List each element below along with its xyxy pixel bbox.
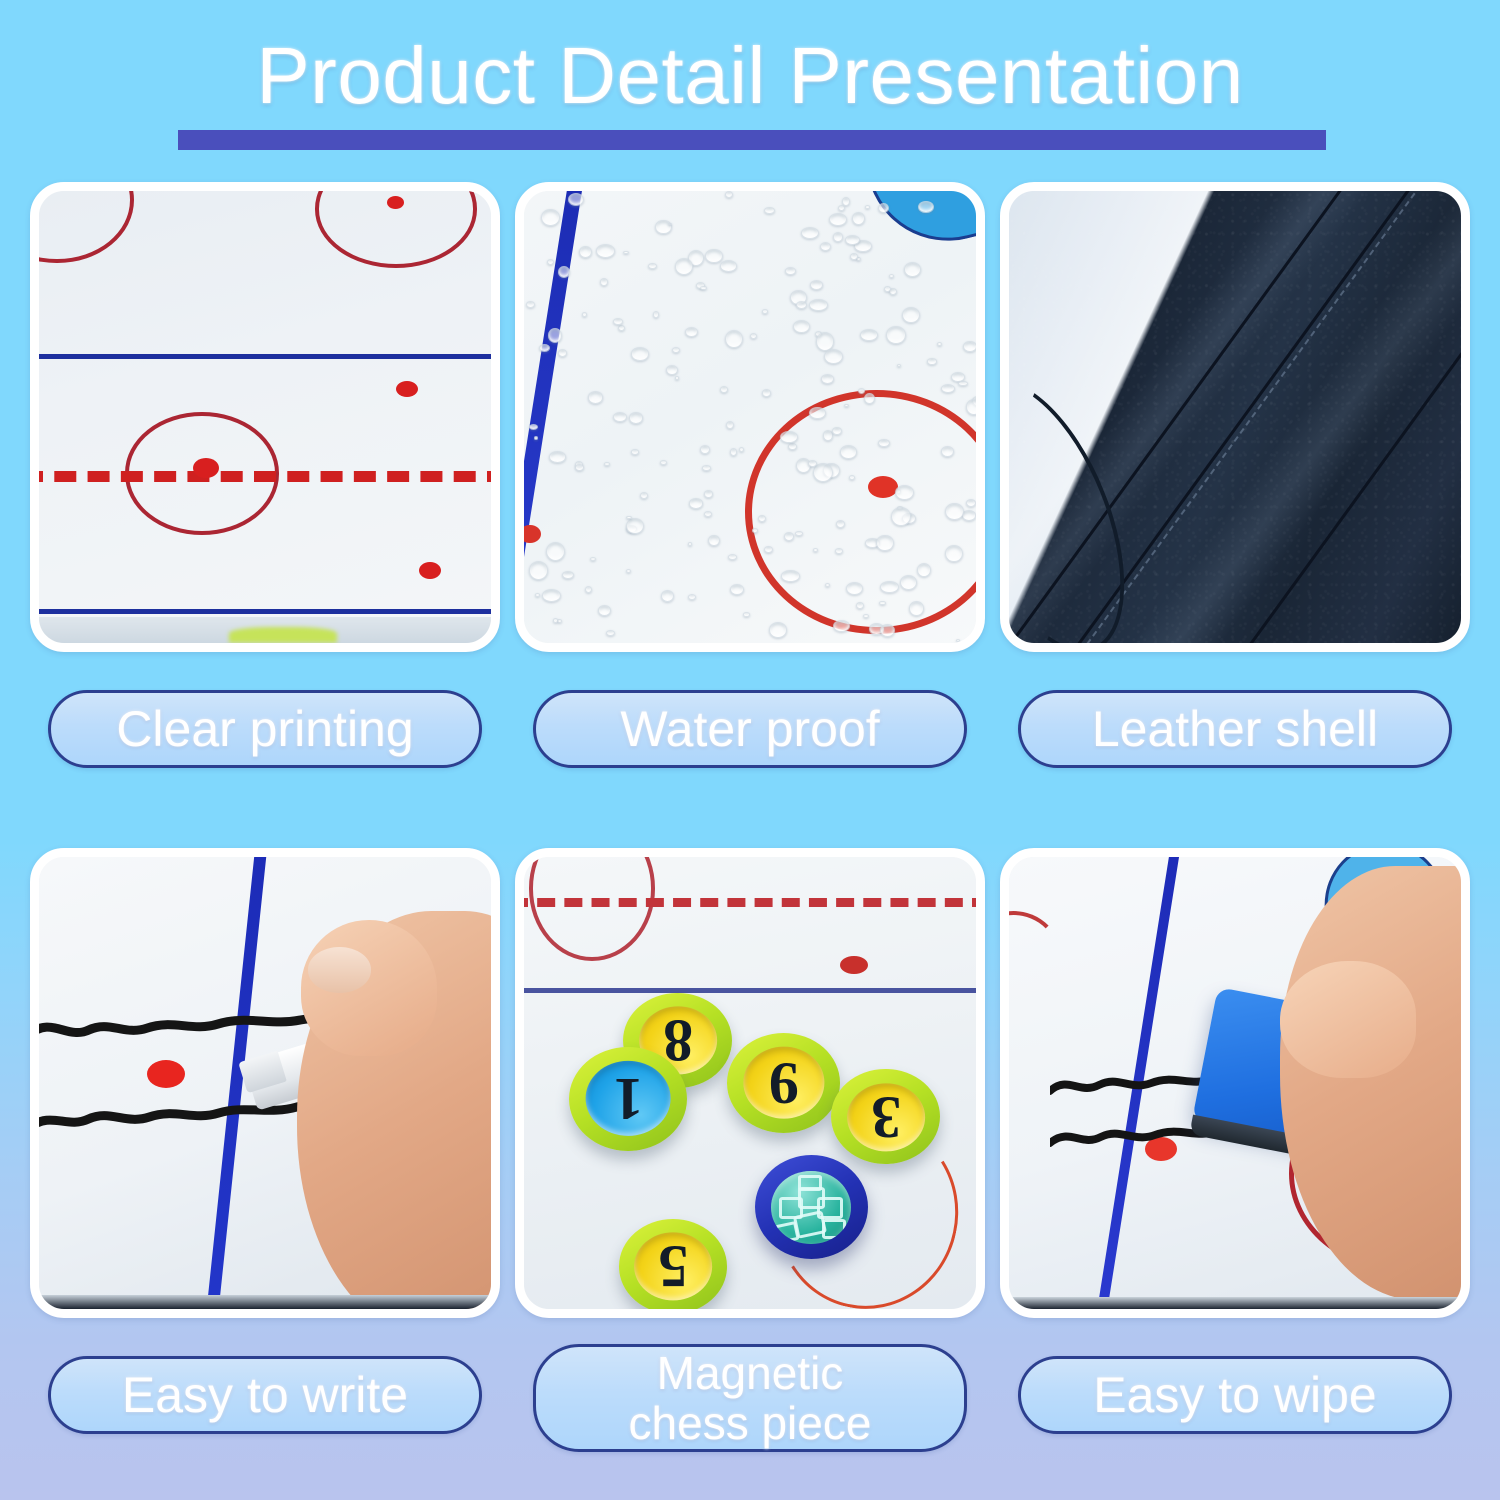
water-droplet: [769, 622, 787, 638]
chess-piece-5: 5: [619, 1219, 727, 1309]
soccer-ball-puck: [755, 1155, 868, 1259]
water-droplet: [958, 381, 967, 387]
feature-card-water-proof[interactable]: Water proof: [515, 182, 985, 652]
water-droplet: [788, 443, 797, 449]
chess-piece-9: 9: [727, 1033, 840, 1132]
water-droplet: [704, 490, 713, 497]
feature-image-easy-to-wipe: [1000, 848, 1470, 1318]
water-droplet: [562, 571, 574, 579]
soccer-ball-hexagon: [822, 1219, 846, 1239]
water-droplet: [945, 545, 962, 562]
feature-label-line-2: chess piece: [629, 1397, 872, 1449]
water-droplet: [631, 449, 639, 454]
water-droplet: [833, 620, 850, 632]
feature-label-line-1: Magnetic: [657, 1347, 844, 1399]
water-droplet: [529, 561, 548, 579]
water-droplet: [629, 412, 643, 423]
soccer-ball-hexagon: [798, 1175, 822, 1191]
water-droplet: [793, 320, 810, 333]
water-droplet: [927, 358, 936, 364]
soccer-ball-hexagon: [774, 1221, 800, 1243]
water-droplet: [613, 412, 627, 422]
water-droplet: [795, 531, 803, 536]
water-droplet: [626, 518, 644, 534]
water-droplet: [876, 535, 893, 551]
water-droplet: [675, 376, 680, 379]
water-droplet: [963, 341, 976, 353]
water-droplet: [956, 639, 960, 642]
water-droplet: [780, 431, 797, 443]
chess-piece-3: 3: [831, 1069, 939, 1164]
water-droplet: [604, 462, 610, 466]
water-droplet: [917, 563, 931, 577]
water-droplet: [688, 594, 696, 600]
water-droplet: [575, 464, 584, 470]
feature-card-leather-shell[interactable]: Leather shell: [1000, 182, 1470, 652]
feature-image-easy-to-write: [30, 848, 500, 1318]
water-droplet: [541, 209, 559, 226]
feature-label-easy-to-wipe: Easy to wipe: [1018, 1356, 1452, 1434]
water-droplet: [891, 507, 910, 526]
chess-piece-1: 1: [569, 1047, 687, 1151]
water-droplet: [825, 583, 830, 587]
water-droplet: [864, 393, 875, 404]
water-droplet: [730, 584, 744, 595]
water-droplet: [764, 207, 774, 214]
feature-label-text: Easy to wipe: [1093, 1368, 1376, 1422]
water-droplet: [548, 328, 562, 343]
feature-label-magnetic-chess-piece: Magnetic chess piece: [533, 1344, 967, 1452]
water-droplet: [626, 516, 631, 519]
water-droplet: [889, 274, 894, 278]
water-droplet: [539, 344, 550, 352]
water-droplet: [720, 260, 737, 272]
water-droplet: [889, 288, 897, 295]
water-droplet: [529, 424, 538, 430]
water-droplet: [596, 244, 615, 258]
chess-piece-number: 3: [847, 1083, 925, 1151]
water-droplet: [813, 463, 833, 482]
water-droplet: [858, 388, 865, 394]
water-droplet: [579, 246, 592, 258]
water-droplet: [860, 329, 878, 341]
water-droplet: [720, 386, 728, 393]
water-droplet: [852, 212, 865, 225]
feature-label-text: Magnetic chess piece: [629, 1348, 872, 1448]
water-droplet: [821, 374, 834, 383]
water-droplet: [966, 399, 976, 415]
water-droplet: [549, 451, 567, 463]
water-droplet: [725, 191, 733, 198]
feature-image-leather-shell: [1000, 182, 1470, 652]
chess-piece-number: 9: [743, 1047, 824, 1119]
water-droplet: [880, 624, 895, 637]
water-droplet: [640, 492, 648, 499]
water-droplet: [796, 301, 807, 309]
feature-label-leather-shell: Leather shell: [1018, 690, 1452, 768]
water-droplet: [878, 203, 889, 213]
chess-piece-number: 5: [634, 1232, 712, 1300]
water-droplet: [558, 349, 567, 357]
feature-label-easy-to-write: Easy to write: [48, 1356, 482, 1434]
water-droplet: [849, 475, 855, 480]
water-droplet: [750, 333, 757, 339]
water-droplet: [941, 384, 955, 393]
water-droplet: [838, 205, 845, 211]
water-droplet: [613, 318, 623, 325]
water-droplet: [865, 205, 870, 209]
water-droplet: [879, 601, 886, 606]
page-title: Product Detail Presentation: [0, 26, 1500, 126]
water-droplet: [813, 548, 818, 552]
feature-label-clear-printing: Clear printing: [48, 690, 482, 768]
water-droplet: [762, 389, 772, 397]
water-droplet: [909, 601, 924, 615]
feature-label-text: Clear printing: [116, 702, 413, 756]
water-droplet: [880, 581, 898, 593]
water-droplet: [568, 193, 584, 206]
water-droplet: [810, 280, 823, 290]
water-droplet: [966, 499, 976, 507]
water-droplet: [832, 427, 842, 435]
water-droplet: [704, 511, 712, 517]
chess-piece-number: 1: [586, 1061, 671, 1136]
water-droplet: [743, 612, 750, 617]
water-droplet: [600, 278, 608, 286]
water-droplet: [702, 465, 711, 471]
water-droplet: [708, 535, 720, 547]
water-droplet: [700, 445, 710, 454]
water-droplet: [824, 349, 843, 364]
water-droplet: [945, 503, 964, 520]
feature-card-easy-to-wipe[interactable]: Easy to wipe: [1000, 848, 1470, 1318]
feature-label-text: Leather shell: [1092, 702, 1378, 756]
feature-card-clear-printing[interactable]: Clear printing: [30, 182, 500, 652]
feature-label-water-proof: Water proof: [533, 690, 967, 768]
water-droplet: [845, 235, 860, 245]
water-droplet: [688, 542, 692, 545]
water-droplet: [816, 332, 834, 351]
water-droplet: [900, 575, 917, 590]
water-droplet: [764, 546, 772, 553]
water-droplet: [728, 554, 738, 560]
water-droplet: [886, 326, 905, 344]
water-droplet: [705, 249, 722, 263]
title-underline-bar: [178, 130, 1326, 150]
water-droplet: [904, 262, 921, 277]
feature-card-magnetic-chess-piece[interactable]: 8 9 3 1: [515, 848, 985, 1318]
water-droplet: [785, 267, 797, 275]
water-droplet: [730, 448, 738, 456]
feature-card-easy-to-write[interactable]: Easy to write: [30, 848, 500, 1318]
water-droplet: [833, 232, 843, 241]
water-droplet: [835, 548, 842, 554]
feature-label-text: Water proof: [620, 702, 879, 756]
water-droplet: [725, 330, 743, 348]
water-droplet: [846, 582, 863, 595]
water-droplet: [762, 309, 768, 314]
water-droplet: [588, 391, 603, 403]
water-droplet: [700, 286, 706, 290]
feature-image-water-proof: [515, 182, 985, 652]
water-droplet: [689, 498, 703, 508]
water-droplet: [553, 618, 558, 623]
water-droplet: [958, 642, 963, 643]
feature-label-text: Easy to write: [122, 1368, 408, 1422]
water-droplet: [653, 311, 660, 318]
water-droplet: [685, 327, 698, 337]
feature-image-clear-printing: [30, 182, 500, 652]
feature-image-magnetic-chess-piece: 8 9 3 1: [515, 848, 985, 1318]
water-droplet: [660, 460, 667, 465]
water-droplet: [631, 347, 649, 360]
water-droplet: [781, 570, 799, 582]
water-droplet: [840, 445, 857, 458]
page-header: Product Detail Presentation: [0, 26, 1500, 141]
water-droplet: [546, 542, 566, 561]
water-droplet: [547, 259, 554, 265]
water-droplet: [884, 286, 891, 292]
